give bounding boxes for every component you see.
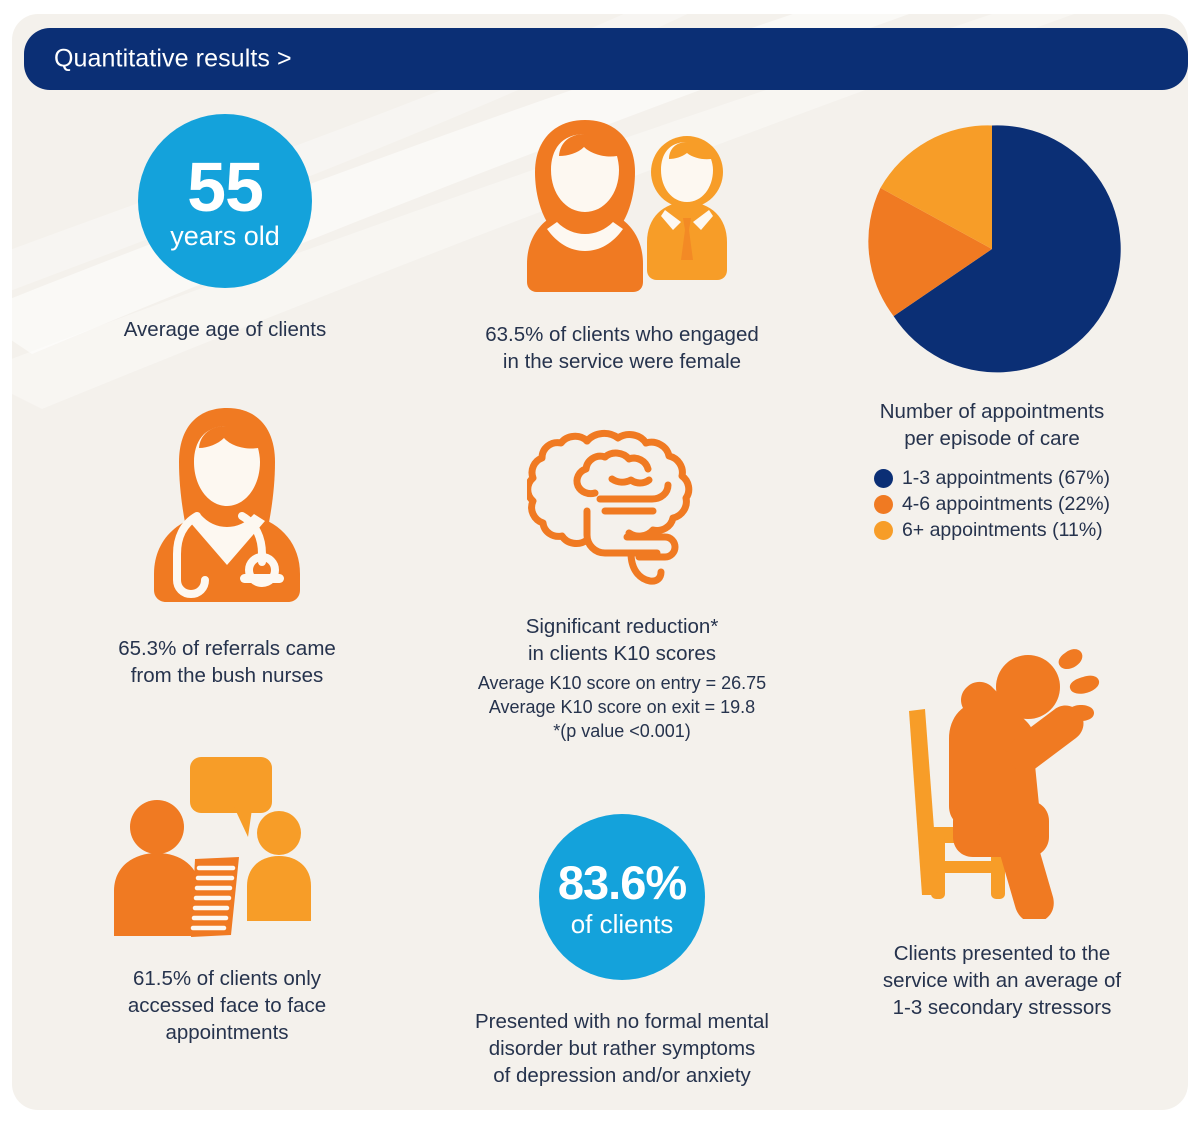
name-badge-glyph xyxy=(240,574,284,583)
section-header-banner: Quantitative results > xyxy=(24,28,1188,90)
age-caption: Average age of clients xyxy=(60,316,390,343)
k10-detail: Average K10 score on entry = 26.75 Avera… xyxy=(432,671,812,743)
nurse-icon xyxy=(142,404,312,604)
stat-average-age: 55 years old Average age of clients xyxy=(60,114,390,343)
legend-item: 1-3 appointments (67%) xyxy=(874,467,1110,490)
pie-chart-title: Number of appointments per episode of ca… xyxy=(822,398,1162,452)
face-to-face-caption: 61.5% of clients only accessed face to f… xyxy=(47,965,407,1046)
stat-referrals: 65.3% of referrals came from the bush nu… xyxy=(47,404,407,689)
legend-label: 4-6 appointments (22%) xyxy=(902,493,1110,516)
disorder-unit: of clients xyxy=(571,909,674,939)
page-title: Quantitative results > xyxy=(54,45,292,74)
referrals-caption: 65.3% of referrals came from the bush nu… xyxy=(47,635,407,689)
two-people-icon xyxy=(497,114,747,294)
legend-color-swatch-orange xyxy=(874,495,893,514)
disorder-value: 83.6% xyxy=(558,859,686,907)
conversation-icon xyxy=(102,749,352,944)
legend-color-swatch-navy xyxy=(874,469,893,488)
person-right-glyph xyxy=(247,811,311,921)
female-caption: 63.5% of clients who engaged in the serv… xyxy=(432,321,812,375)
stat-k10-reduction: Significant reduction* in clients K10 sc… xyxy=(432,419,812,743)
stat-female-clients: 63.5% of clients who engaged in the serv… xyxy=(432,114,812,375)
pie-chart-legend: 1-3 appointments (67%) 4-6 appointments … xyxy=(874,464,1110,545)
person-body-glyph xyxy=(949,655,1083,919)
stat-secondary-stressors: Clients presented to the service with an… xyxy=(832,639,1172,1021)
age-stat-circle: 55 years old xyxy=(138,114,312,288)
stat-face-to-face: 61.5% of clients only accessed face to f… xyxy=(47,749,407,1046)
document-glyph xyxy=(191,857,239,937)
stressed-person-icon xyxy=(887,639,1117,919)
person-left-glyph xyxy=(114,800,200,936)
stressors-caption: Clients presented to the service with an… xyxy=(832,940,1172,1021)
legend-item: 4-6 appointments (22%) xyxy=(874,493,1110,516)
age-unit: years old xyxy=(170,221,280,251)
legend-item: 6+ appointments (11%) xyxy=(874,519,1110,542)
brain-icon xyxy=(527,419,717,594)
legend-label: 6+ appointments (11%) xyxy=(902,519,1103,542)
legend-label: 1-3 appointments (67%) xyxy=(902,467,1110,490)
disorder-stat-circle: 83.6% of clients xyxy=(539,814,705,980)
appointments-pie-chart xyxy=(862,119,1122,379)
disorder-caption: Presented with no formal mental disorder… xyxy=(432,1008,812,1089)
age-value: 55 xyxy=(187,157,263,217)
k10-title: Significant reduction* in clients K10 sc… xyxy=(432,613,812,667)
infographic-panel: Quantitative results > 55 years old Aver… xyxy=(12,14,1188,1110)
legend-color-swatch-amber xyxy=(874,521,893,540)
appointments-pie-chart-block: Number of appointments per episode of ca… xyxy=(822,119,1162,545)
stat-no-formal-disorder: 83.6% of clients Presented with no forma… xyxy=(432,814,812,1089)
